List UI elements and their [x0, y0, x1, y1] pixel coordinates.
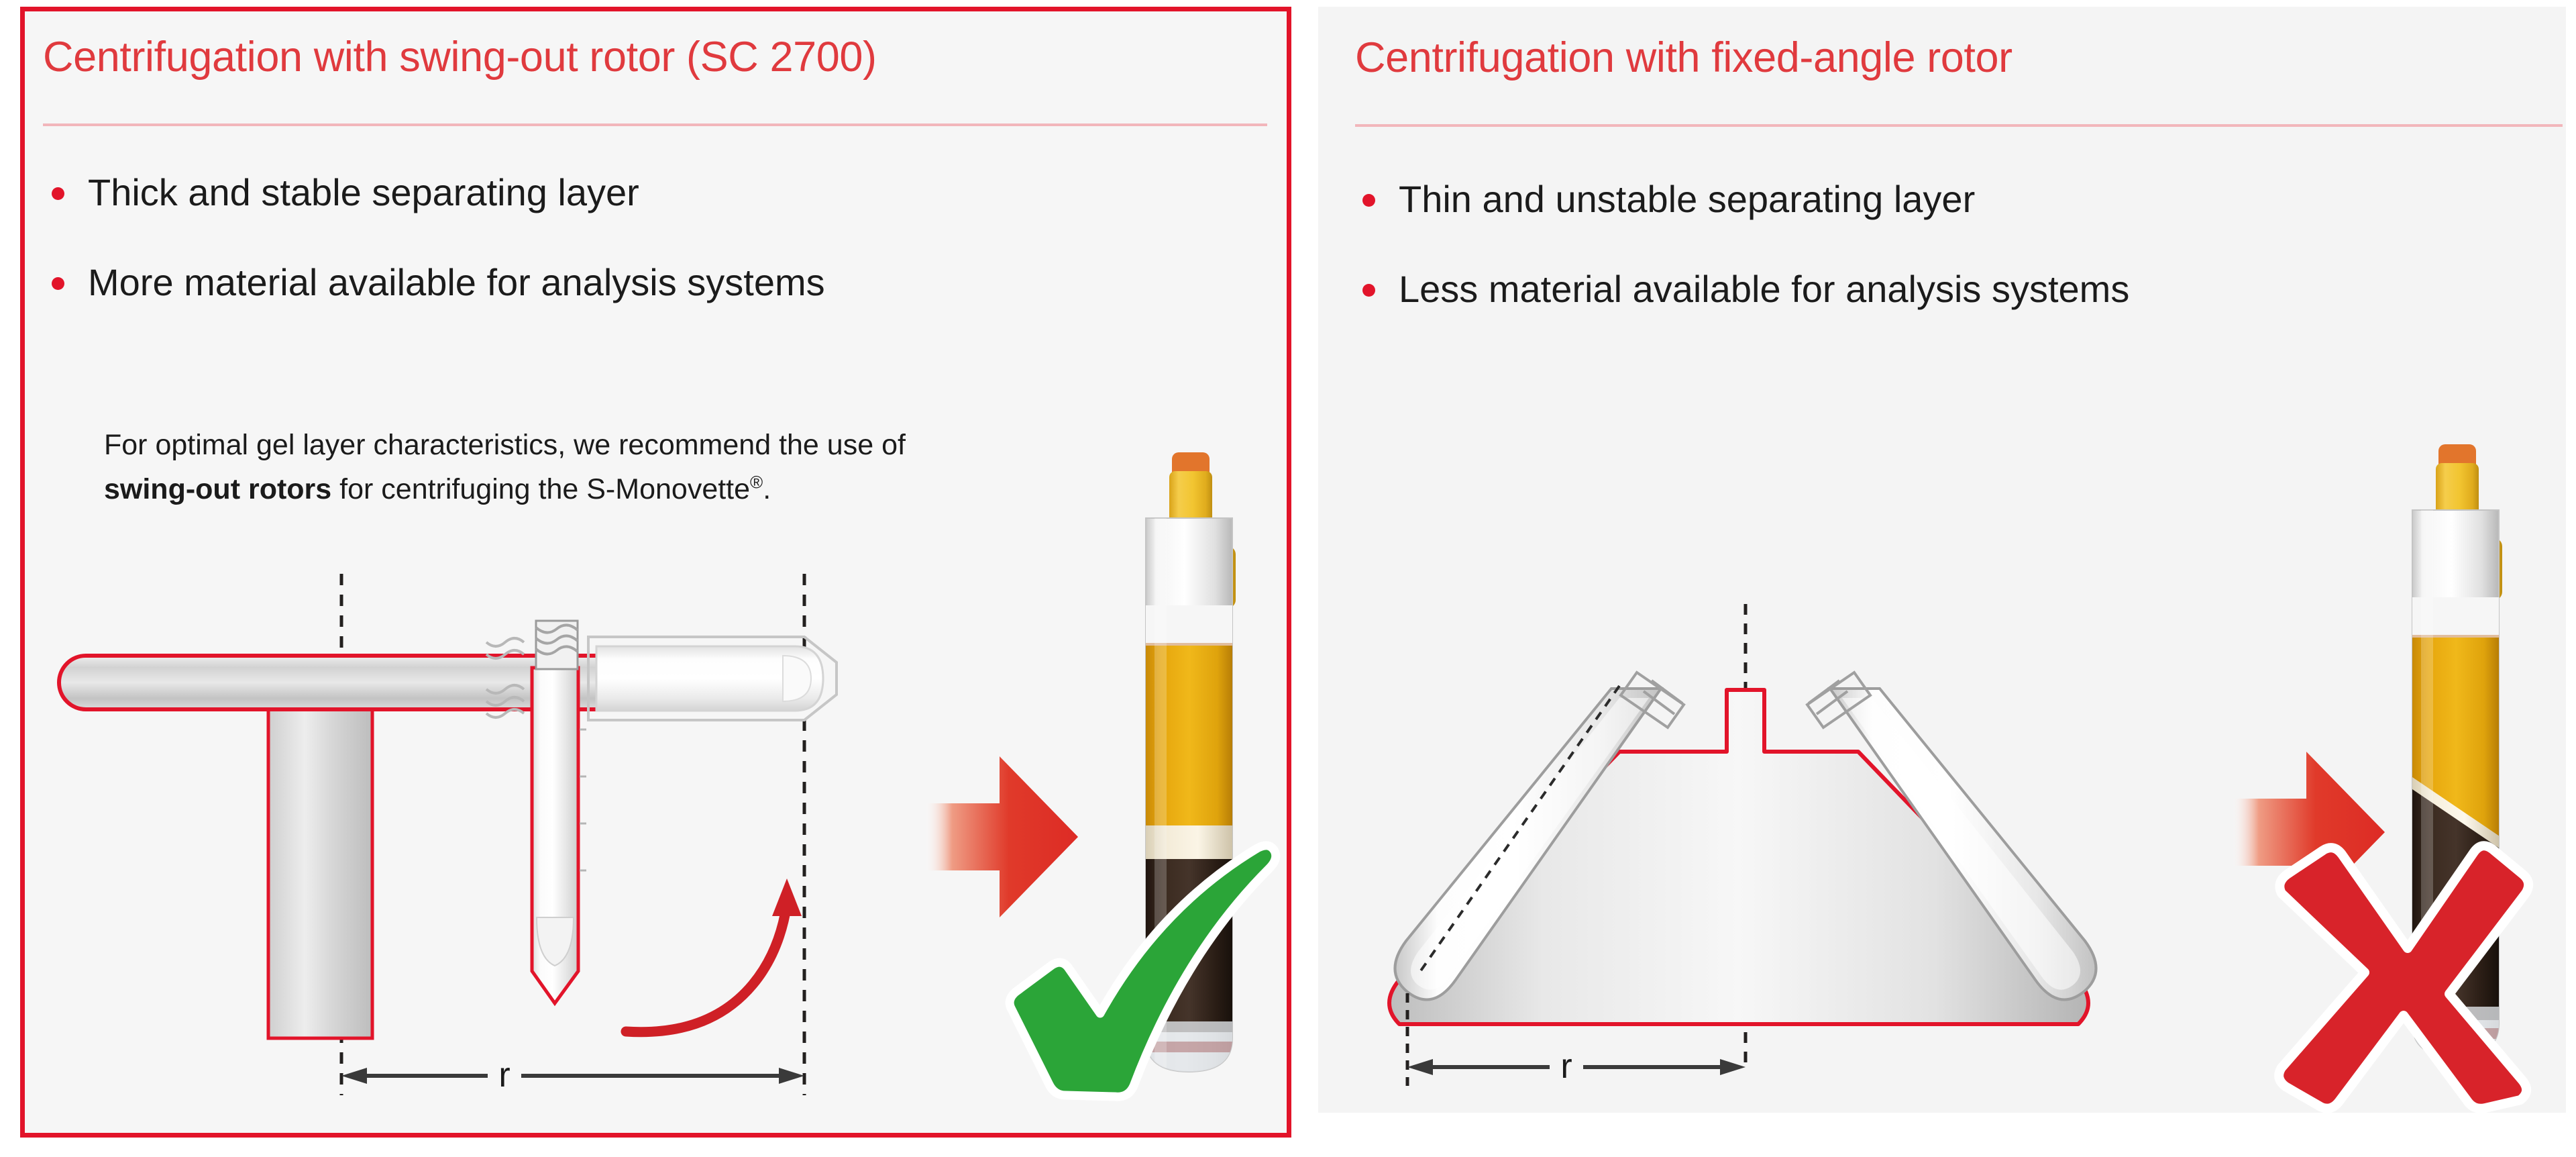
list-item: Thick and stable separating layer [46, 171, 825, 214]
verdict-good [1001, 827, 1283, 1102]
radius-label-right: r [1560, 1047, 1572, 1086]
swing-direction-arrow [626, 878, 802, 1032]
bullet-dot-icon [52, 187, 64, 200]
note-bold-term: swing-out rotors [104, 473, 331, 505]
panel-right-title-rule [1355, 124, 2563, 127]
bullet-dot-icon [1362, 284, 1375, 297]
list-item: Less material available for analysis sys… [1357, 268, 2129, 311]
verdict-bad [2264, 836, 2539, 1114]
bullet-dot-icon [1362, 194, 1375, 207]
registered-trademark-icon: ® [750, 472, 763, 493]
fixed-angle-rotor-diagram: r [1348, 604, 2140, 1101]
note-period: . [763, 473, 771, 505]
rotor-bucket-body [268, 689, 372, 1038]
bullet-dot-icon [52, 277, 64, 290]
bullet-text: Thick and stable separating layer [88, 171, 639, 213]
bullet-text: Thin and unstable separating layer [1399, 178, 1975, 220]
list-item: More material available for analysis sys… [46, 261, 825, 304]
panel-left-title-rule [43, 123, 1267, 126]
panel-left-bullet-list: Thick and stable separating layer More m… [46, 171, 825, 351]
panel-left-title: Centrifugation with swing-out rotor (SC … [43, 33, 877, 81]
panel-right-title: Centrifugation with fixed-angle rotor [1355, 34, 2012, 82]
vertical-tube [532, 621, 586, 1003]
radius-dimension-left: r [341, 1056, 804, 1095]
bullet-text: More material available for analysis sys… [88, 261, 825, 303]
panel-swing-out-rotor: Centrifugation with swing-out rotor (SC … [20, 7, 1291, 1138]
radius-label-left: r [498, 1056, 510, 1095]
note-line-2: for centrifuging the S-Monovette [331, 473, 750, 505]
panel-right-bullet-list: Thin and unstable separating layer Less … [1357, 178, 2129, 358]
check-mark-icon [1010, 846, 1276, 1097]
horizontal-tube [588, 637, 837, 720]
comparison-figure: Centrifugation with swing-out rotor (SC … [0, 0, 2576, 1157]
swing-out-rotor-diagram: r [52, 555, 917, 1112]
recommendation-note: For optimal gel layer characteristics, w… [104, 423, 1258, 511]
cross-mark-icon [2279, 846, 2528, 1109]
bullet-text: Less material available for analysis sys… [1399, 268, 2129, 310]
list-item: Thin and unstable separating layer [1357, 178, 2129, 221]
note-line-1: For optimal gel layer characteristics, w… [104, 429, 906, 461]
